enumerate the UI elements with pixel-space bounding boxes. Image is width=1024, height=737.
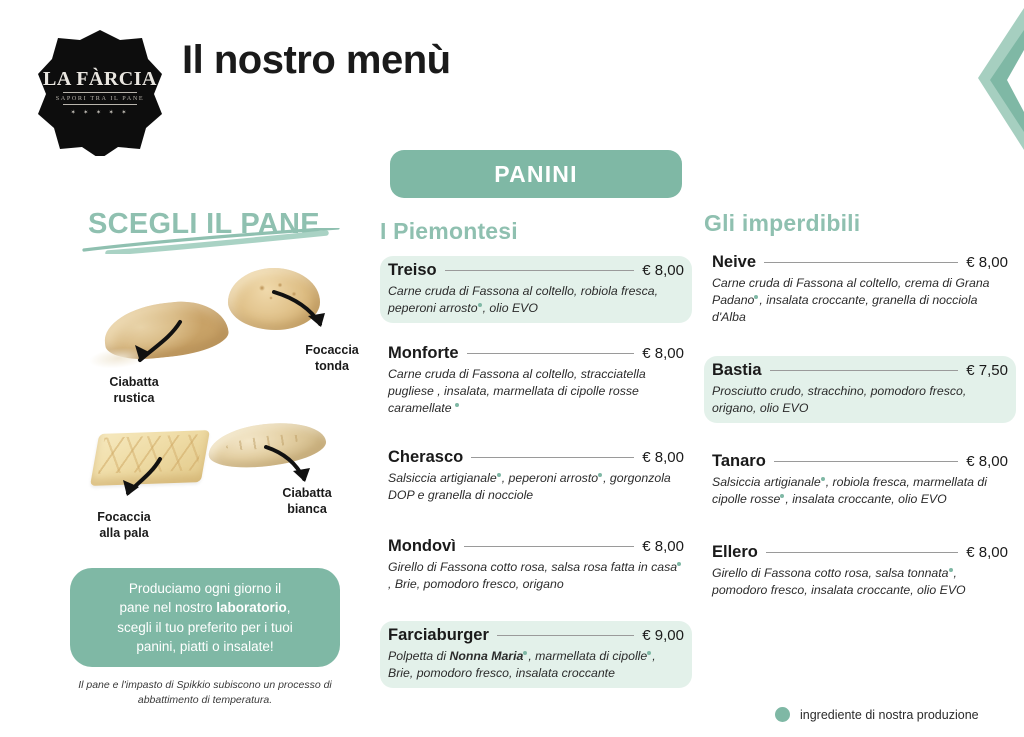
house-made-dot-icon <box>821 477 825 481</box>
menu-item-row: Farciaburger€ 9,00 <box>388 626 684 645</box>
menu-item-leader-line <box>766 552 958 553</box>
menu-item-name: Cherasco <box>388 448 463 467</box>
page-title: Il nostro menù <box>182 38 451 83</box>
brand-logo: LA FÀRCIA SAPORI TRA IL PANE ✶ ✶ ✶ ✶ ✶ <box>36 28 164 156</box>
house-made-dot-icon <box>949 568 953 572</box>
menu-item-leader-line <box>445 270 635 271</box>
house-made-dot-icon <box>523 651 527 655</box>
panini-banner-label: PANINI <box>494 161 577 188</box>
menu-item-leader-line <box>770 370 959 371</box>
menu-item[interactable]: Tanaro€ 8,00Salsiccia artigianale, robio… <box>704 447 1016 514</box>
legend: ingrediente di nostra produzione <box>775 707 979 722</box>
menu-item-name: Farciaburger <box>388 626 489 645</box>
info-line-4: panini, piatti o insalate! <box>136 639 273 654</box>
menu-item-description: Carne cruda di Fassona al coltello, crem… <box>712 275 1008 326</box>
info-line-3: scegli il tuo preferito per i tuoi <box>117 620 293 635</box>
bread-footnote: Il pane e l'impasto di Spikkio subiscono… <box>70 678 340 708</box>
menu-item-price: € 8,00 <box>966 453 1008 470</box>
menu-item-row: Tanaro€ 8,00 <box>712 452 1008 471</box>
menu-item[interactable]: Ellero€ 8,00Girello di Fassona cotto ros… <box>704 538 1016 605</box>
menu-item[interactable]: Bastia€ 7,50Prosciutto crudo, stracchino… <box>704 356 1016 423</box>
bread-label-line: Focaccia alla pala <box>74 510 174 541</box>
info-line-2a: pane nel nostro <box>119 600 216 615</box>
menu-item-row: Mondovì€ 8,00 <box>388 537 684 556</box>
menu-item-name: Treiso <box>388 261 437 280</box>
menu-item-description: Salsiccia artigianale, robiola fresca, m… <box>712 474 1008 508</box>
panini-section-banner: PANINI <box>390 150 682 198</box>
house-made-dot-icon <box>754 295 758 299</box>
menu-item-leader-line <box>764 262 958 263</box>
legend-label: ingrediente di nostra produzione <box>800 708 979 722</box>
menu-column-imperdibili: Gli imperdibili Neive€ 8,00Carne cruda d… <box>704 210 1016 629</box>
bread-label-focaccia-alla-pala: Focaccia alla pala <box>74 510 174 541</box>
menu-item-price: € 8,00 <box>642 262 684 279</box>
menu-item-row: Monforte€ 8,00 <box>388 344 684 363</box>
menu-item-description: Prosciutto crudo, stracchino, pomodoro f… <box>712 383 1008 417</box>
arrow-to-focaccia-alla-pala <box>110 455 170 512</box>
bread-label-line: Focaccia tonda <box>282 343 382 374</box>
menu-item-price: € 8,00 <box>642 345 684 362</box>
arrow-to-ciabatta-rustica <box>118 318 188 381</box>
menu-page: LA FÀRCIA SAPORI TRA IL PANE ✶ ✶ ✶ ✶ ✶ I… <box>0 0 1024 737</box>
column-heading: I Piemontesi <box>380 218 692 245</box>
menu-item[interactable]: Treiso€ 8,00Carne cruda di Fassona al co… <box>380 256 692 323</box>
menu-item-description: Girello di Fassona cotto rosa, salsa ton… <box>712 565 1008 599</box>
menu-item-leader-line <box>471 457 634 458</box>
menu-item-description: Carne cruda di Fassona al coltello, stra… <box>388 366 684 417</box>
menu-item-description-emphasis: Nonna Maria <box>450 649 524 663</box>
house-made-dot-icon <box>497 473 501 477</box>
bread-label-ciabatta-rustica: Ciabatta rustica <box>84 375 184 406</box>
menu-item-row: Ellero€ 8,00 <box>712 543 1008 562</box>
menu-item[interactable]: Mondovì€ 8,00Girello di Fassona cotto ro… <box>380 532 692 599</box>
menu-item-name: Bastia <box>712 361 762 380</box>
bread-title-underline <box>80 228 342 254</box>
arrow-to-focaccia-tonda <box>268 286 338 347</box>
menu-item-description: Polpetta di Nonna Maria, marmellata di c… <box>388 648 684 682</box>
bread-info-box: Produciamo ogni giorno il pane nel nostr… <box>70 568 340 667</box>
menu-item-row: Cherasco€ 8,00 <box>388 448 684 467</box>
menu-item-price: € 8,00 <box>966 254 1008 271</box>
house-made-dot-icon <box>775 707 790 722</box>
menu-item[interactable]: Neive€ 8,00Carne cruda di Fassona al col… <box>704 248 1016 332</box>
menu-item-name: Tanaro <box>712 452 766 471</box>
menu-item-price: € 7,50 <box>966 362 1008 379</box>
column-heading: Gli imperdibili <box>704 210 1016 237</box>
house-made-dot-icon <box>455 403 459 407</box>
house-made-dot-icon <box>647 651 651 655</box>
menu-item-description: Carne cruda di Fassona al coltello, robi… <box>388 283 684 317</box>
info-line-2c: , <box>287 600 291 615</box>
menu-item-row: Bastia€ 7,50 <box>712 361 1008 380</box>
house-made-dot-icon <box>598 473 602 477</box>
bread-info-text: Produciamo ogni giorno il pane nel nostr… <box>117 579 293 656</box>
menu-item-description: Salsiccia artigianale, peperoni arrosto,… <box>388 470 684 504</box>
menu-item-leader-line <box>497 635 634 636</box>
menu-item[interactable]: Monforte€ 8,00Carne cruda di Fassona al … <box>380 339 692 423</box>
corner-decoration <box>960 0 1024 170</box>
menu-item-description: Girello di Fassona cotto rosa, salsa ros… <box>388 559 684 593</box>
menu-item[interactable]: Cherasco€ 8,00Salsiccia artigianale, pep… <box>380 443 692 510</box>
bread-label-line: Ciabatta bianca <box>257 486 357 517</box>
info-line-2b: laboratorio <box>216 600 287 615</box>
menu-item-name: Ellero <box>712 543 758 562</box>
menu-item-leader-line <box>774 461 958 462</box>
menu-item-price: € 8,00 <box>642 449 684 466</box>
menu-item-leader-line <box>467 353 635 354</box>
info-line-1: Produciamo ogni giorno il <box>129 581 281 596</box>
menu-item-price: € 8,00 <box>966 544 1008 561</box>
bread-label-ciabatta-bianca: Ciabatta bianca <box>257 486 357 517</box>
menu-item-price: € 8,00 <box>642 538 684 555</box>
bread-label-line: Ciabatta rustica <box>84 375 184 406</box>
menu-item-leader-line <box>464 546 634 547</box>
menu-item-name: Monforte <box>388 344 459 363</box>
menu-item-name: Neive <box>712 253 756 272</box>
bread-label-focaccia-tonda: Focaccia tonda <box>282 343 382 374</box>
menu-item-name: Mondovì <box>388 537 456 556</box>
menu-item-row: Neive€ 8,00 <box>712 253 1008 272</box>
menu-item[interactable]: Farciaburger€ 9,00Polpetta di Nonna Mari… <box>380 621 692 688</box>
house-made-dot-icon <box>677 562 681 566</box>
house-made-dot-icon <box>478 303 482 307</box>
menu-column-piemontesi: I Piemontesi Treiso€ 8,00Carne cruda di … <box>380 218 692 710</box>
menu-items-list: Treiso€ 8,00Carne cruda di Fassona al co… <box>380 256 692 688</box>
menu-item-price: € 9,00 <box>642 627 684 644</box>
menu-item-row: Treiso€ 8,00 <box>388 261 684 280</box>
house-made-dot-icon <box>780 494 784 498</box>
menu-items-list: Neive€ 8,00Carne cruda di Fassona al col… <box>704 248 1016 605</box>
